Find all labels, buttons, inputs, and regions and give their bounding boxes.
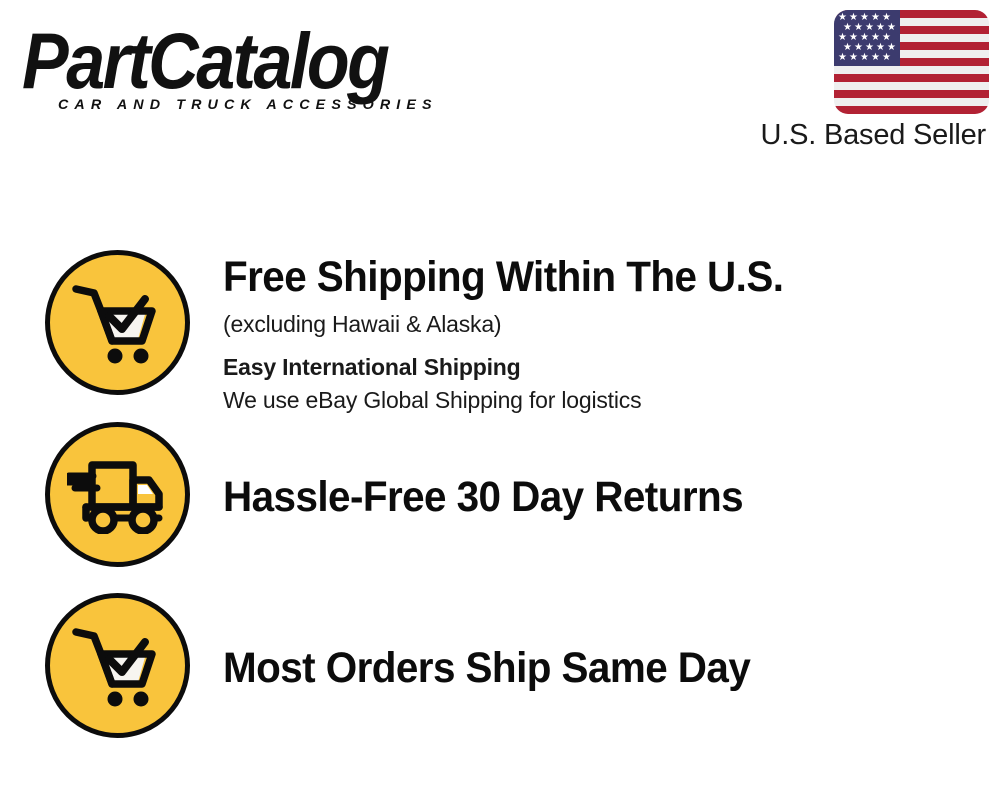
star-icon: ★ <box>882 53 891 63</box>
star-icon: ★ <box>860 53 869 63</box>
delivery-truck-icon <box>45 422 190 567</box>
feature-title: Most Orders Ship Same Day <box>223 643 953 693</box>
shopping-cart-check-icon <box>45 250 190 395</box>
feature-item-same-day-ship: Most Orders Ship Same Day <box>0 593 1000 743</box>
brand-tagline: CAR AND TRUCK ACCESSORIES <box>58 96 438 112</box>
feature-text-block: Hassle-Free 30 Day Returns <box>190 472 1000 522</box>
feature-subline-exclusion: (excluding Hawaii & Alaska) <box>223 308 1000 341</box>
feature-subline-international-heading: Easy International Shipping <box>223 351 1000 384</box>
us-flag-icon: ★ ★ ★ ★ ★ ★ ★ ★ ★ ★ ★ ★ ★ ★ ★ ★ ★ ★ ★ ★ … <box>834 10 989 114</box>
flag-canton: ★ ★ ★ ★ ★ ★ ★ ★ ★ ★ ★ ★ ★ ★ ★ ★ ★ ★ ★ ★ … <box>834 10 900 66</box>
star-icon: ★ <box>871 53 880 63</box>
page-header: PartCatalog CAR AND TRUCK ACCESSORIES ★ … <box>0 0 1000 175</box>
brand-logo[interactable]: PartCatalog CAR AND TRUCK ACCESSORIES <box>22 22 492 114</box>
feature-item-returns: Hassle-Free 30 Day Returns <box>0 422 1000 572</box>
shopping-cart-check-icon <box>45 593 190 738</box>
feature-title: Free Shipping Within The U.S. <box>223 252 953 302</box>
brand-wordmark: PartCatalog <box>22 22 492 100</box>
seller-location-note: U.S. Based Seller <box>761 118 987 152</box>
star-icon: ★ <box>849 53 858 63</box>
feature-item-free-shipping: Free Shipping Within The U.S. (excluding… <box>0 250 1000 400</box>
feature-text-block: Free Shipping Within The U.S. (excluding… <box>190 250 1000 417</box>
feature-text-block: Most Orders Ship Same Day <box>190 643 1000 693</box>
feature-title: Hassle-Free 30 Day Returns <box>223 472 953 522</box>
star-icon: ★ <box>838 53 847 63</box>
feature-subline-logistics: We use eBay Global Shipping for logistic… <box>223 384 1000 417</box>
